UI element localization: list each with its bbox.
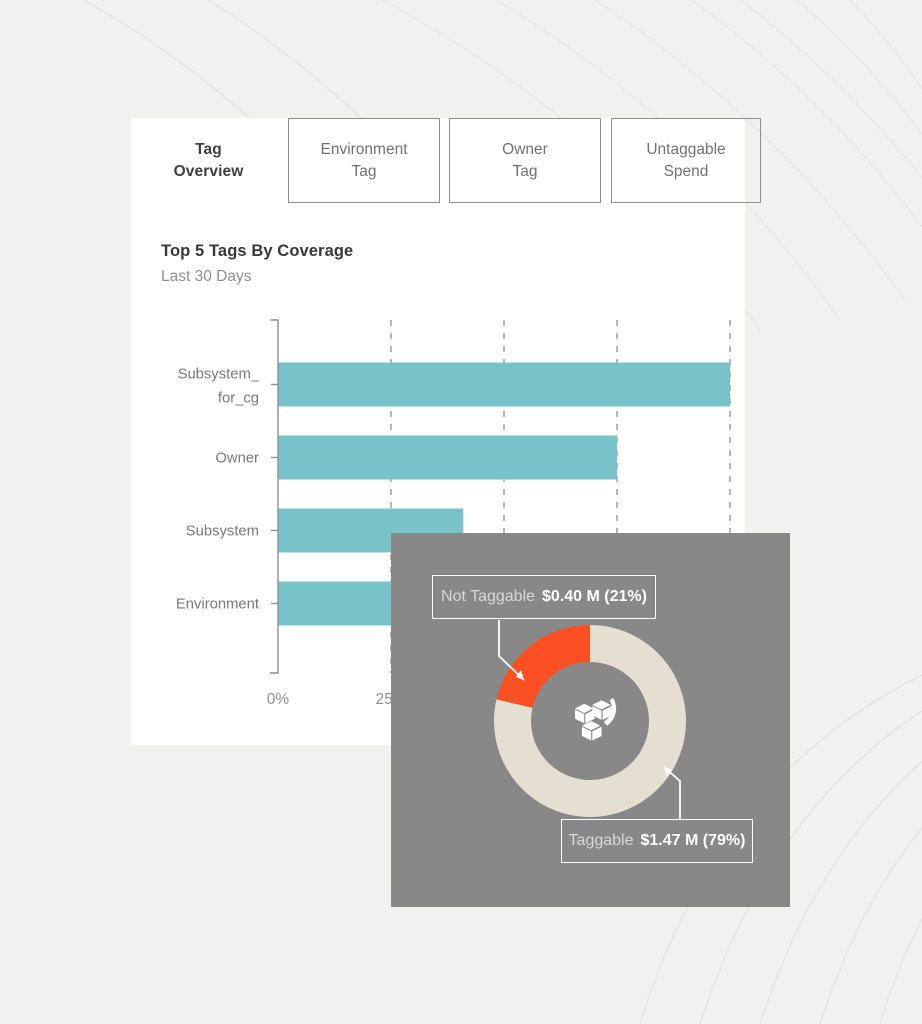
tab-environment-tag[interactable]: Environment Tag bbox=[288, 118, 440, 203]
bar-Owner[interactable] bbox=[278, 436, 617, 480]
bar-chart-category-labels: Subsystem_for_cgOwnerSubsystemEnvironmen… bbox=[176, 367, 260, 613]
bar-category-label: for_cg bbox=[218, 391, 259, 407]
tab-owner-tag[interactable]: Owner Tag bbox=[449, 118, 601, 203]
chart-header: Top 5 Tags By Coverage Last 30 Days bbox=[161, 242, 353, 286]
tab-owner-line1: Owner bbox=[502, 139, 548, 161]
tab-tag-overview-line1: Tag bbox=[195, 139, 222, 161]
untaggable-spend-panel: Not Taggable $0.40 M (21%) Taggable $1.4… bbox=[391, 533, 790, 907]
chart-title: Top 5 Tags By Coverage bbox=[161, 242, 353, 261]
bar-category-label: Subsystem_ bbox=[178, 367, 260, 383]
callout-taggable[interactable]: Taggable $1.47 M (79%) bbox=[561, 819, 753, 863]
tab-environment-line1: Environment bbox=[320, 139, 407, 161]
bar-category-label: Environment bbox=[176, 597, 259, 613]
callout-taggable-label: Taggable bbox=[569, 832, 634, 850]
tab-untaggable-line1: Untaggable bbox=[646, 139, 725, 161]
bar-category-label: Subsystem bbox=[186, 524, 259, 540]
tab-environment-line2: Tag bbox=[352, 161, 377, 183]
callout-not-taggable[interactable]: Not Taggable $0.40 M (21%) bbox=[432, 575, 656, 619]
tab-owner-line2: Tag bbox=[513, 161, 538, 183]
bar-tick-label: 0% bbox=[267, 691, 290, 708]
tab-untaggable-spend[interactable]: Untaggable Spend bbox=[611, 118, 761, 203]
callout-taggable-value: $1.47 M (79%) bbox=[641, 832, 746, 850]
bar-chart-tick-labels: 0%25% bbox=[267, 691, 407, 708]
bar-chart-y-axis bbox=[270, 320, 278, 673]
tab-tag-overview-line2: Overview bbox=[174, 161, 244, 183]
callout-not-taggable-label: Not Taggable bbox=[441, 588, 535, 606]
tab-strip: Tag Overview Environment Tag Owner Tag U… bbox=[131, 118, 761, 203]
tab-tag-overview[interactable]: Tag Overview bbox=[131, 118, 286, 203]
callout-not-taggable-value: $0.40 M (21%) bbox=[542, 588, 647, 606]
chart-subtitle: Last 30 Days bbox=[161, 268, 353, 286]
tab-untaggable-line2: Spend bbox=[664, 161, 709, 183]
bar-category-label: Owner bbox=[215, 451, 259, 467]
bar-Subsystem_for_cg[interactable] bbox=[278, 363, 730, 407]
